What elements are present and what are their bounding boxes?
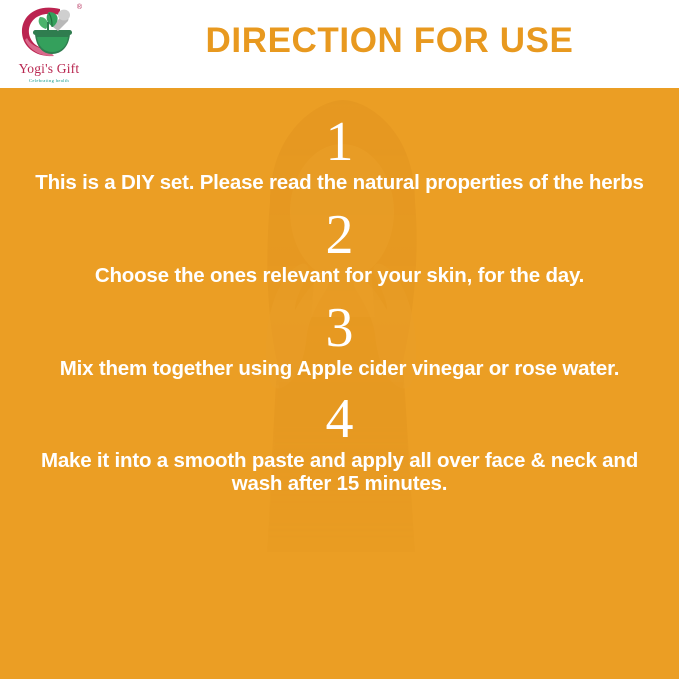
step-number-2: 2 bbox=[22, 209, 657, 262]
header-bar: ® Yogi's Gift Celebrating health DIRECTI… bbox=[0, 0, 679, 88]
step-text-3: Mix them together using Apple cider vine… bbox=[22, 358, 657, 381]
brand-tagline: Celebrating health bbox=[29, 79, 69, 84]
brand-logo: ® Yogi's Gift Celebrating health bbox=[6, 2, 92, 86]
direction-for-use-infographic: ® Yogi's Gift Celebrating health DIRECTI… bbox=[0, 0, 679, 679]
step-number-3: 3 bbox=[22, 302, 657, 355]
step-item-1: 1 This is a DIY set. Please read the nat… bbox=[22, 116, 657, 195]
step-item-2: 2 Choose the ones relevant for your skin… bbox=[22, 209, 657, 288]
step-number-4: 4 bbox=[22, 393, 657, 446]
step-item-3: 3 Mix them together using Apple cider vi… bbox=[22, 302, 657, 381]
mortar-pestle-leaf-logo-icon: ® bbox=[18, 4, 80, 59]
step-item-4: 4 Make it into a smooth paste and apply … bbox=[22, 393, 657, 495]
page-title: DIRECTION FOR USE bbox=[100, 0, 679, 88]
step-text-2: Choose the ones relevant for your skin, … bbox=[22, 265, 657, 288]
brand-name: Yogi's Gift bbox=[19, 62, 80, 76]
registered-trademark-icon: ® bbox=[77, 4, 82, 11]
step-text-1: This is a DIY set. Please read the natur… bbox=[22, 172, 657, 195]
step-text-4: Make it into a smooth paste and apply al… bbox=[22, 450, 657, 496]
step-number-1: 1 bbox=[22, 116, 657, 169]
steps-list: 1 This is a DIY set. Please read the nat… bbox=[0, 88, 679, 679]
